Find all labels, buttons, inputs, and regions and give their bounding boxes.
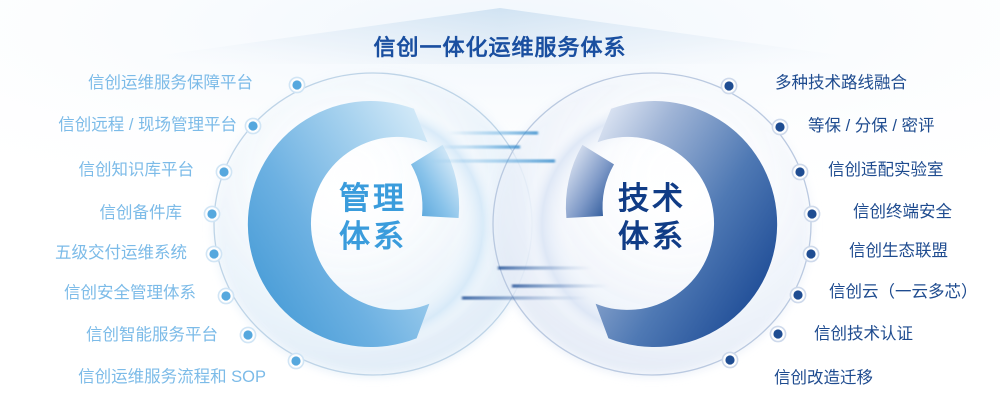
left-node-dot-7[interactable] (243, 330, 252, 339)
right-label-1[interactable]: 多种技术路线融合 (775, 75, 1000, 92)
right-label-2[interactable]: 等保 / 分保 / 密评 (808, 118, 1000, 135)
left-node-dot-4[interactable] (207, 209, 216, 218)
right-label-3[interactable]: 信创适配实验室 (828, 162, 1000, 179)
left-node-dot-8[interactable] (291, 356, 300, 365)
right-node-dot-2[interactable] (775, 122, 784, 131)
decor-line-bottom-2 (512, 285, 608, 288)
left-node-dot-5[interactable] (209, 249, 218, 258)
left-ring-caption: 管理 体系 (273, 180, 473, 256)
right-node-dot-5[interactable] (806, 249, 815, 258)
right-ring-caption-line-2: 体系 (552, 218, 752, 256)
right-label-8[interactable]: 信创改造迁移 (774, 370, 1000, 387)
decor-line-top-3 (430, 160, 555, 163)
left-node-dot-6[interactable] (221, 291, 230, 300)
right-node-dot-6[interactable] (793, 290, 802, 299)
left-node-dot-3[interactable] (219, 167, 228, 176)
right-label-4[interactable]: 信创终端安全 (853, 204, 1000, 221)
left-label-7[interactable]: 信创智能服务平台 (0, 327, 218, 344)
decor-line-top-2 (438, 146, 520, 149)
left-ring-caption-line-1: 管理 (273, 180, 473, 218)
right-label-6[interactable]: 信创云（一云多芯） (829, 284, 1000, 301)
right-ring-caption-line-1: 技术 (552, 180, 752, 218)
left-label-1[interactable]: 信创运维服务保障平台 (0, 75, 253, 92)
decor-line-top-1 (447, 132, 538, 135)
left-label-3[interactable]: 信创知识库平台 (0, 162, 194, 179)
left-label-5[interactable]: 五级交付运维系统 (0, 245, 187, 262)
right-label-7[interactable]: 信创技术认证 (814, 326, 1000, 343)
left-node-dot-1[interactable] (292, 80, 301, 89)
infographic-canvas: 信创一体化运维服务体系 管理 体系 技术 体系 信创运维服务保障平台信创远程 /… (0, 0, 1000, 408)
left-label-4[interactable]: 信创备件库 (0, 205, 182, 222)
left-label-2[interactable]: 信创远程 / 现场管理平台 (0, 117, 237, 134)
right-node-dot-3[interactable] (795, 167, 804, 176)
right-ring-caption: 技术 体系 (552, 180, 752, 256)
right-node-dot-1[interactable] (724, 81, 733, 90)
right-node-dot-8[interactable] (725, 355, 734, 364)
left-label-8[interactable]: 信创运维服务流程和 SOP (0, 369, 266, 386)
right-label-5[interactable]: 信创生态联盟 (849, 243, 1000, 260)
decor-line-bottom-3 (462, 297, 588, 300)
right-node-dot-7[interactable] (773, 329, 782, 338)
page-title: 信创一体化运维服务体系 (0, 30, 1000, 62)
left-label-6[interactable]: 信创安全管理体系 (0, 285, 196, 302)
left-ring-caption-line-2: 体系 (273, 218, 473, 256)
left-node-dot-2[interactable] (248, 121, 257, 130)
right-node-dot-4[interactable] (807, 209, 816, 218)
decor-line-bottom-1 (498, 267, 592, 270)
